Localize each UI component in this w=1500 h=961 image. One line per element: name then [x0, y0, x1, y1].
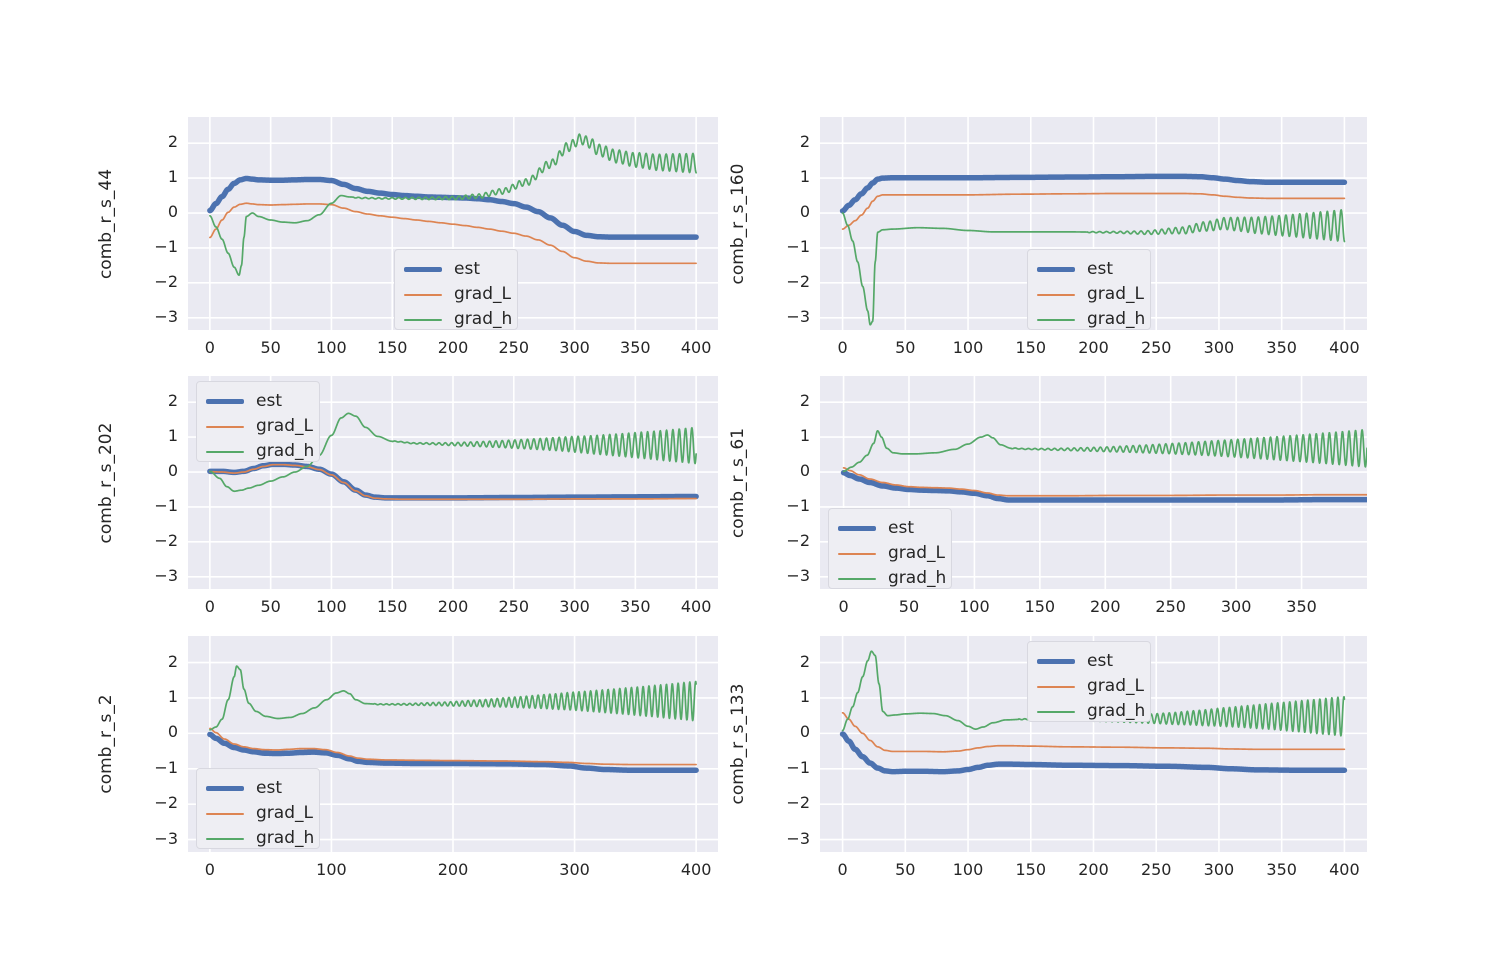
x-tick-label: 200	[1064, 338, 1124, 357]
x-tick-label: 350	[605, 597, 665, 616]
legend-item-est[interactable]: est	[206, 389, 308, 414]
y-axis-label-comb_r_s_160: comb_r_s_160	[728, 163, 748, 284]
legend-comb_r_s_2[interactable]: estgrad_Lgrad_h	[196, 768, 320, 849]
y-tick-label: 2	[132, 132, 178, 151]
x-tick-label: 400	[1314, 860, 1374, 879]
legend-swatch-grad_L-icon	[404, 294, 442, 296]
y-tick-label: 0	[132, 202, 178, 221]
y-tick-label: −2	[764, 793, 810, 812]
y-tick-label: 2	[764, 132, 810, 151]
figure-canvas: −3−2−1012050100150200250300350400comb_r_…	[0, 0, 1500, 961]
legend-swatch-grad_h-icon	[206, 451, 244, 453]
x-tick-label: 350	[1252, 860, 1312, 879]
x-tick-label: 400	[666, 597, 726, 616]
x-tick-label: 300	[545, 338, 605, 357]
x-tick-label: 100	[301, 338, 361, 357]
y-tick-label: −1	[132, 496, 178, 515]
y-tick-label: 0	[132, 461, 178, 480]
legend-comb_r_s_202[interactable]: estgrad_Lgrad_h	[196, 381, 320, 462]
legend-swatch-est-icon	[404, 267, 442, 273]
y-tick-label: 2	[132, 391, 178, 410]
x-tick-label: 100	[301, 597, 361, 616]
series-line-est	[843, 176, 1345, 211]
y-tick-label: 0	[764, 202, 810, 221]
x-tick-label: 350	[1252, 338, 1312, 357]
legend-item-grad_h[interactable]: grad_h	[404, 307, 506, 332]
series-line-est	[844, 473, 1367, 500]
y-tick-label: 0	[132, 722, 178, 741]
legend-swatch-est-icon	[1037, 659, 1075, 665]
y-axis-label-comb_r_s_44: comb_r_s_44	[96, 168, 116, 278]
x-tick-label: 250	[1126, 860, 1186, 879]
y-tick-label: 0	[764, 722, 810, 741]
y-tick-label: −3	[764, 566, 810, 585]
legend-swatch-grad_L-icon	[1037, 686, 1075, 688]
legend-label-grad_h: grad_h	[454, 311, 512, 328]
legend-label-grad_h: grad_h	[1087, 703, 1145, 720]
legend-label-grad_L: grad_L	[256, 418, 313, 435]
legend-label-est: est	[1087, 261, 1113, 278]
legend-item-grad_h[interactable]: grad_h	[206, 826, 308, 851]
series-line-est	[210, 178, 696, 237]
legend-swatch-grad_h-icon	[1037, 319, 1075, 321]
legend-comb_r_s_61[interactable]: estgrad_Lgrad_h	[828, 508, 952, 589]
y-tick-label: −1	[132, 758, 178, 777]
legend-item-est[interactable]: est	[404, 257, 506, 282]
x-tick-label: 100	[938, 338, 998, 357]
x-tick-label: 0	[180, 338, 240, 357]
series-line-est	[210, 464, 696, 498]
legend-label-est: est	[256, 393, 282, 410]
series-line-grad_h	[844, 430, 1367, 471]
y-tick-label: 2	[132, 652, 178, 671]
y-tick-label: −2	[764, 531, 810, 550]
y-tick-label: −2	[132, 793, 178, 812]
y-tick-label: −1	[132, 237, 178, 256]
x-tick-label: 250	[1141, 597, 1201, 616]
legend-item-grad_L[interactable]: grad_L	[1037, 282, 1139, 307]
y-tick-label: −3	[764, 829, 810, 848]
legend-label-grad_L: grad_L	[1087, 678, 1144, 695]
y-axis-label-comb_r_s_2: comb_r_s_2	[96, 694, 116, 793]
y-tick-label: −1	[764, 237, 810, 256]
legend-item-grad_L[interactable]: grad_L	[838, 541, 940, 566]
legend-swatch-est-icon	[206, 786, 244, 792]
y-tick-label: −2	[132, 531, 178, 550]
y-tick-label: 1	[764, 167, 810, 186]
y-tick-label: 2	[764, 391, 810, 410]
series-line-grad_L	[843, 193, 1345, 229]
x-tick-label: 350	[605, 338, 665, 357]
x-tick-label: 200	[423, 338, 483, 357]
y-axis-label-comb_r_s_61: comb_r_s_61	[728, 427, 748, 537]
x-tick-label: 150	[1001, 860, 1061, 879]
legend-swatch-grad_L-icon	[838, 553, 876, 555]
legend-swatch-grad_h-icon	[206, 838, 244, 840]
legend-label-grad_L: grad_L	[454, 286, 511, 303]
x-tick-label: 50	[241, 597, 301, 616]
x-tick-label: 50	[875, 860, 935, 879]
x-tick-label: 150	[1010, 597, 1070, 616]
legend-label-grad_h: grad_h	[888, 570, 946, 587]
y-axis-label-comb_r_s_202: comb_r_s_202	[96, 422, 116, 543]
legend-item-grad_L[interactable]: grad_L	[206, 801, 308, 826]
x-tick-label: 250	[1126, 338, 1186, 357]
legend-item-grad_L[interactable]: grad_L	[404, 282, 506, 307]
series-line-grad_L	[844, 468, 1367, 496]
y-tick-label: −1	[764, 758, 810, 777]
y-tick-label: 1	[132, 426, 178, 445]
x-tick-label: 400	[1314, 338, 1374, 357]
series-line-grad_h	[210, 666, 696, 730]
x-tick-label: 0	[813, 860, 873, 879]
x-tick-label: 0	[180, 597, 240, 616]
legend-label-est: est	[888, 520, 914, 537]
legend-comb_r_s_44[interactable]: estgrad_Lgrad_h	[394, 249, 518, 330]
legend-comb_r_s_160[interactable]: estgrad_Lgrad_h	[1027, 249, 1151, 330]
y-tick-label: 0	[764, 461, 810, 480]
y-tick-label: 2	[764, 652, 810, 671]
x-tick-label: 300	[1189, 338, 1249, 357]
x-tick-label: 0	[813, 338, 873, 357]
legend-comb_r_s_133[interactable]: estgrad_Lgrad_h	[1027, 641, 1151, 722]
legend-label-est: est	[454, 261, 480, 278]
legend-item-grad_h[interactable]: grad_h	[206, 439, 308, 464]
x-tick-label: 150	[1001, 338, 1061, 357]
y-tick-label: −3	[132, 829, 178, 848]
y-tick-label: −1	[764, 496, 810, 515]
x-tick-label: 200	[1064, 860, 1124, 879]
legend-item-est[interactable]: est	[1037, 257, 1139, 282]
y-tick-label: −3	[132, 566, 178, 585]
legend-item-grad_L[interactable]: grad_L	[206, 414, 308, 439]
x-tick-label: 100	[938, 860, 998, 879]
y-tick-label: 1	[764, 687, 810, 706]
x-tick-label: 250	[484, 338, 544, 357]
legend-item-est[interactable]: est	[1037, 649, 1139, 674]
x-tick-label: 350	[1272, 597, 1332, 616]
legend-swatch-grad_L-icon	[1037, 294, 1075, 296]
y-axis-label-comb_r_s_133: comb_r_s_133	[728, 684, 748, 805]
x-tick-label: 150	[362, 338, 422, 357]
y-tick-label: −2	[764, 272, 810, 291]
legend-label-est: est	[1087, 653, 1113, 670]
y-tick-label: −3	[132, 307, 178, 326]
legend-item-est[interactable]: est	[838, 516, 940, 541]
x-tick-label: 50	[879, 597, 939, 616]
legend-label-grad_h: grad_h	[1087, 311, 1145, 328]
x-tick-label: 100	[301, 860, 361, 879]
x-tick-label: 400	[666, 338, 726, 357]
x-tick-label: 250	[484, 597, 544, 616]
legend-swatch-grad_L-icon	[206, 813, 244, 815]
x-tick-label: 400	[666, 860, 726, 879]
series-line-grad_L	[210, 465, 696, 500]
x-tick-label: 100	[944, 597, 1004, 616]
x-tick-label: 300	[1206, 597, 1266, 616]
legend-item-grad_L[interactable]: grad_L	[1037, 674, 1139, 699]
series-line-est	[210, 734, 696, 770]
x-tick-label: 150	[362, 597, 422, 616]
legend-label-grad_h: grad_h	[256, 443, 314, 460]
series-line-est	[843, 734, 1345, 772]
y-tick-label: −2	[132, 272, 178, 291]
x-tick-label: 50	[875, 338, 935, 357]
plot-panel-comb_r_s_2: −3−2−10120100200300400comb_r_s_2estgrad_…	[0, 0, 1500, 961]
x-tick-label: 300	[545, 860, 605, 879]
legend-swatch-est-icon	[206, 399, 244, 405]
x-tick-label: 50	[241, 338, 301, 357]
legend-swatch-grad_h-icon	[838, 578, 876, 580]
y-tick-label: 1	[132, 687, 178, 706]
y-tick-label: 1	[764, 426, 810, 445]
legend-label-grad_L: grad_L	[1087, 286, 1144, 303]
x-tick-label: 200	[1075, 597, 1135, 616]
x-tick-label: 300	[545, 597, 605, 616]
legend-label-grad_L: grad_L	[256, 805, 313, 822]
legend-item-est[interactable]: est	[206, 776, 308, 801]
legend-item-grad_h[interactable]: grad_h	[1037, 699, 1139, 724]
x-tick-label: 300	[1189, 860, 1249, 879]
legend-label-grad_L: grad_L	[888, 545, 945, 562]
x-tick-label: 0	[814, 597, 874, 616]
legend-label-est: est	[256, 780, 282, 797]
x-tick-label: 0	[180, 860, 240, 879]
legend-swatch-grad_L-icon	[206, 426, 244, 428]
legend-item-grad_h[interactable]: grad_h	[838, 566, 940, 591]
series-line-grad_L	[210, 728, 696, 764]
y-tick-label: 1	[132, 167, 178, 186]
legend-swatch-grad_h-icon	[404, 319, 442, 321]
x-tick-label: 200	[423, 597, 483, 616]
legend-swatch-grad_h-icon	[1037, 711, 1075, 713]
y-tick-label: −3	[764, 307, 810, 326]
legend-item-grad_h[interactable]: grad_h	[1037, 307, 1139, 332]
legend-swatch-est-icon	[838, 526, 876, 532]
x-tick-label: 200	[423, 860, 483, 879]
legend-label-grad_h: grad_h	[256, 830, 314, 847]
legend-swatch-est-icon	[1037, 267, 1075, 273]
